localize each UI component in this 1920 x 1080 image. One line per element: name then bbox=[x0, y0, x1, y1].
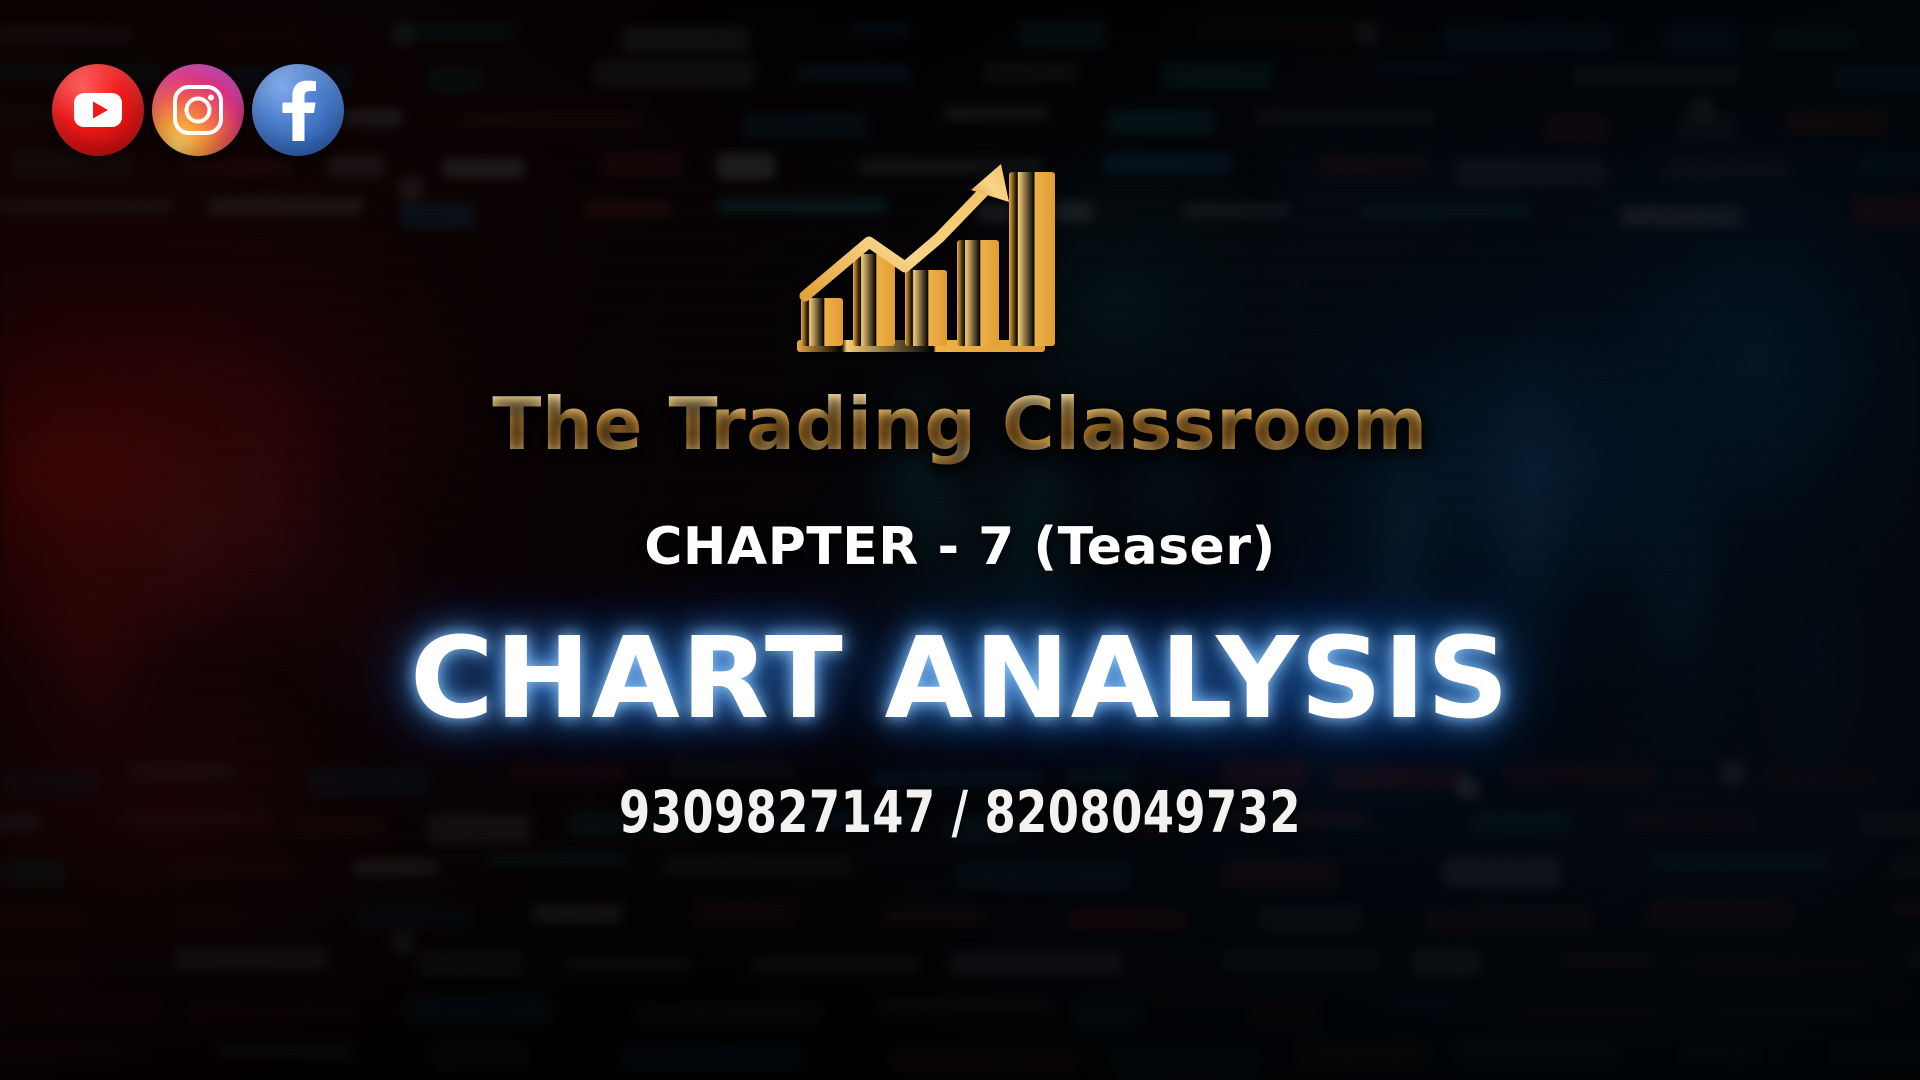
gold-bar-chart-uptrend-arrow-icon bbox=[795, 130, 1125, 370]
poster-canvas: The Trading Classroom The Trading Classr… bbox=[0, 0, 1920, 1080]
facebook-icon bbox=[278, 79, 318, 141]
social-link-instagram[interactable] bbox=[152, 64, 244, 156]
page-title: CHART ANALYSIS bbox=[0, 614, 1920, 744]
chapter-label: CHAPTER - 7 (Teaser) bbox=[0, 517, 1920, 577]
youtube-icon bbox=[73, 92, 123, 128]
logo-bars bbox=[801, 172, 1055, 346]
social-link-facebook[interactable] bbox=[252, 64, 344, 156]
brand-wordmark: The Trading Classroom bbox=[0, 382, 1920, 466]
social-link-youtube[interactable] bbox=[52, 64, 144, 156]
social-links-row bbox=[52, 64, 344, 156]
contact-phone-numbers[interactable]: 9309827147 / 8208049732 bbox=[134, 778, 1785, 846]
instagram-icon bbox=[171, 83, 225, 137]
